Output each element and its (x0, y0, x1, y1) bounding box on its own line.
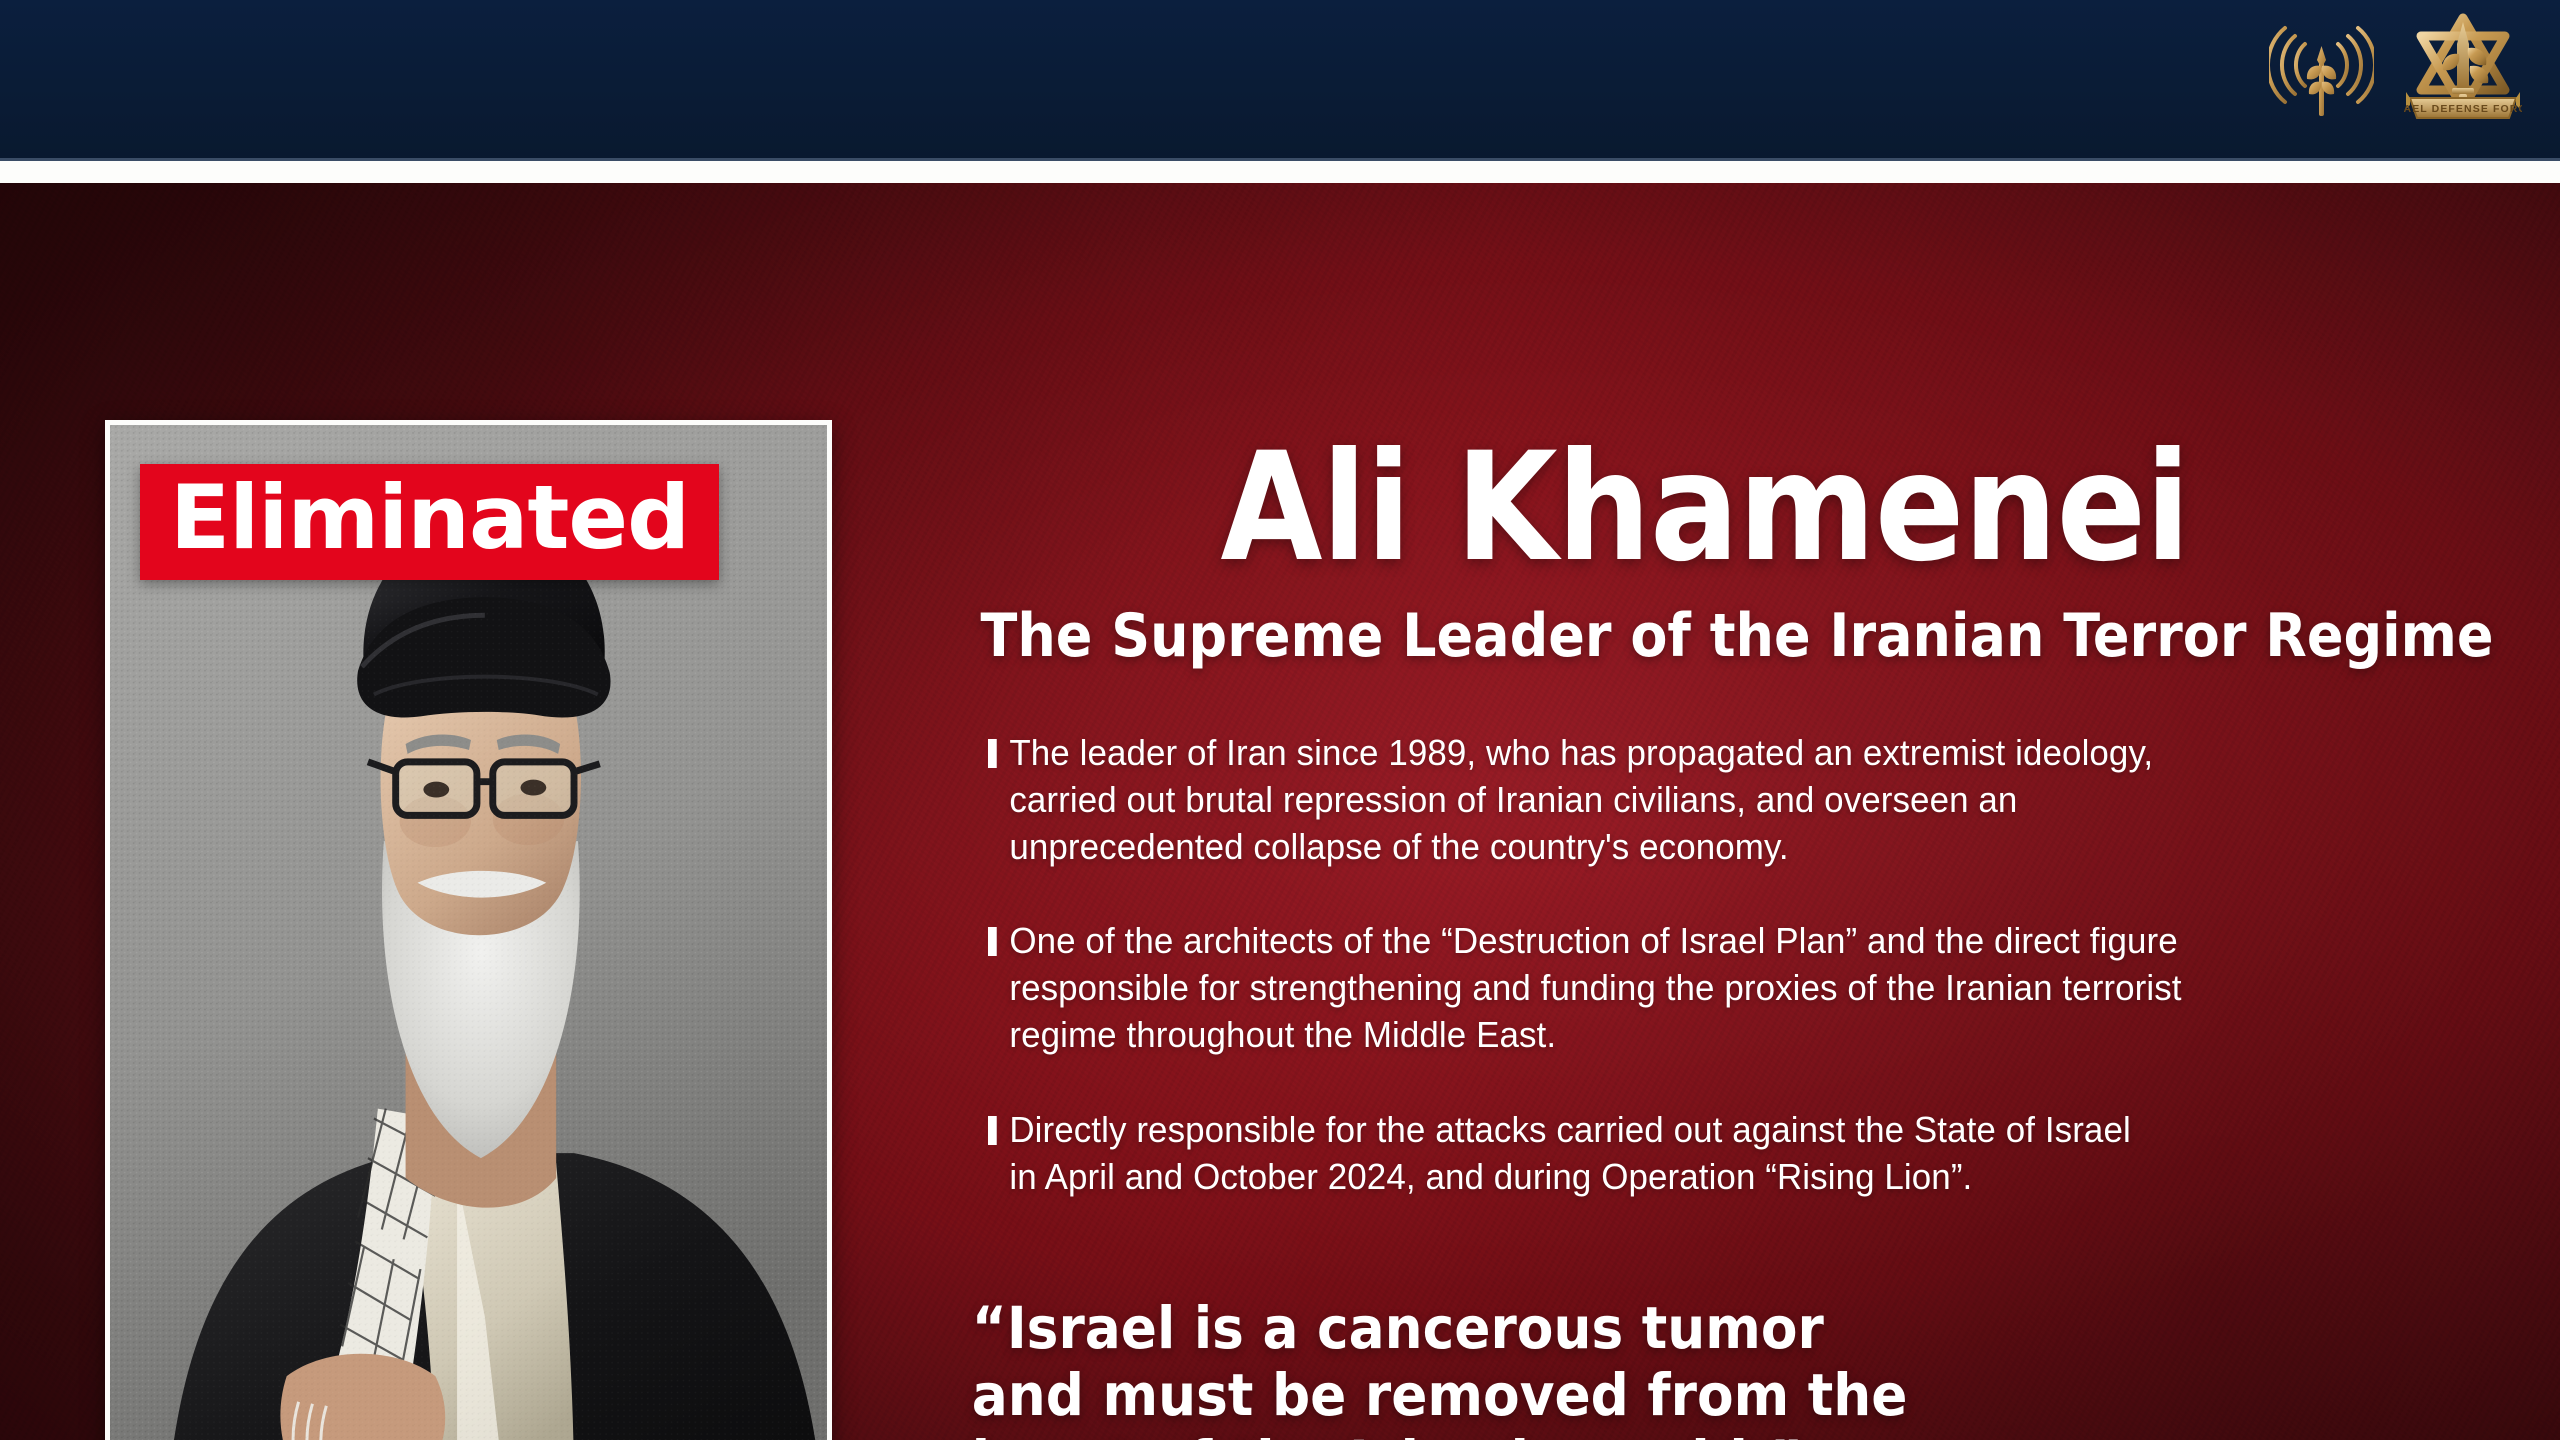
bullet-list: The leader of Iran since 1989, who has p… (900, 730, 2510, 1200)
list-item: The leader of Iran since 1989, who has p… (988, 730, 2365, 870)
main-panel: Eliminated (0, 183, 2560, 1440)
header-logos: ISRAEL DEFENSE FORCES (2269, 8, 2522, 130)
bullet-marker-icon (988, 1116, 997, 1145)
list-item: One of the architects of the “Destructio… (988, 918, 2365, 1058)
idf-ribbon-text: ISRAEL DEFENSE FORCES (2404, 103, 2522, 115)
eliminated-badge: Eliminated (140, 464, 719, 580)
bullet-marker-icon (988, 927, 997, 956)
header-bar: ISRAEL DEFENSE FORCES (0, 0, 2560, 161)
content-column: Ali Khamenei The Supreme Leader of the I… (900, 433, 2510, 1440)
list-item-text: One of the architects of the “Destructio… (1009, 918, 2365, 1058)
page-title: Ali Khamenei (997, 433, 2414, 583)
list-item: Directly responsible for the attacks car… (988, 1107, 2365, 1201)
list-item-text: Directly responsible for the attacks car… (1009, 1107, 2365, 1201)
bullet-marker-icon (988, 739, 997, 768)
pull-quote: “Israel is a cancerous tumor and must be… (900, 1295, 2381, 1440)
idf-emblem-icon: ISRAEL DEFENSE FORCES (2404, 8, 2522, 130)
broadcast-spokesperson-emblem-icon (2269, 10, 2374, 128)
infographic-canvas: ISRAEL DEFENSE FORCES (0, 0, 2560, 1440)
page-subtitle: The Supreme Leader of the Iranian Terror… (981, 605, 2430, 668)
header-divider (0, 161, 2560, 183)
list-item-text: The leader of Iran since 1989, who has p… (1009, 730, 2365, 870)
